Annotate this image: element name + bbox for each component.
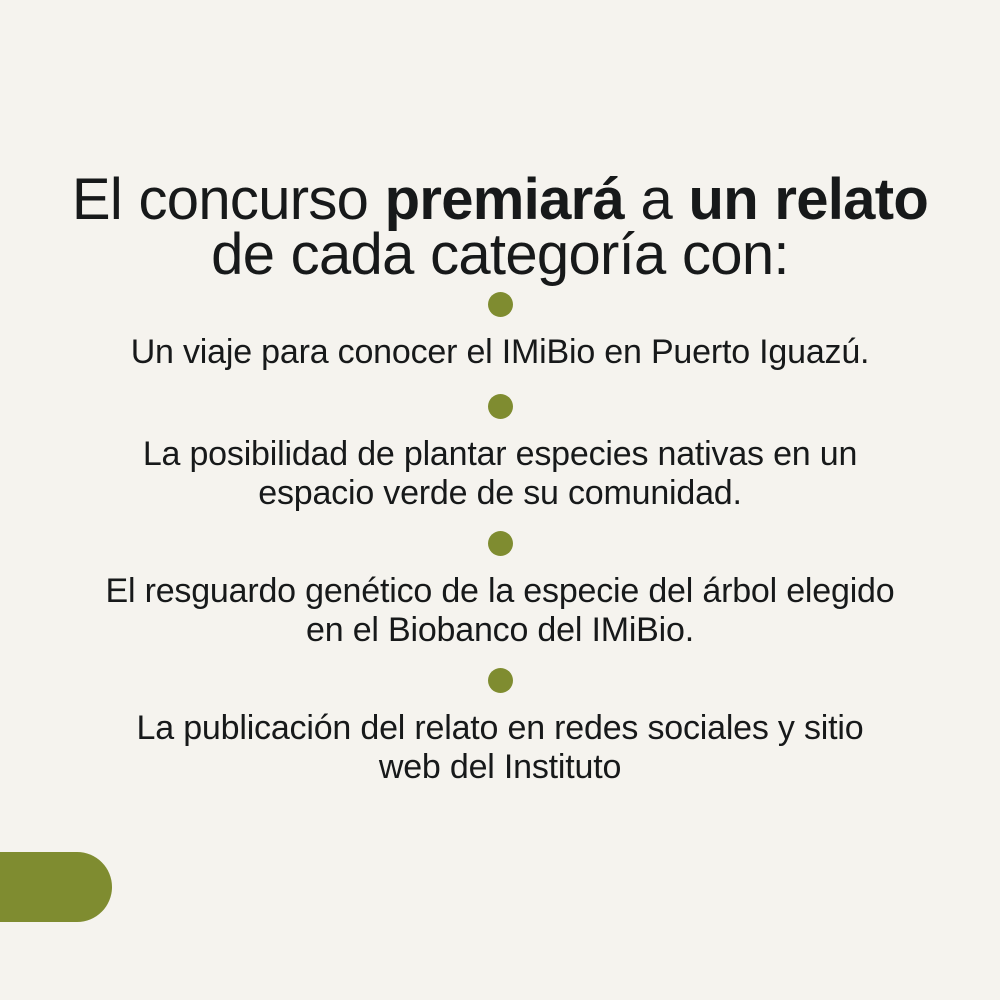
list-item: La posibilidad de plantar especies nativ… [0, 394, 1000, 531]
headline-line-2: de cada categoría con: [211, 222, 789, 287]
list-item-label: La publicación del relato en redes socia… [105, 693, 895, 787]
list-item-label: La posibilidad de plantar especies nativ… [100, 419, 900, 513]
list-item: El resguardo genético de la especie del … [0, 531, 1000, 668]
corner-pill-shape [0, 852, 112, 922]
prize-list: Un viaje para conocer el IMiBio en Puert… [0, 292, 1000, 787]
dot-bullet-icon [488, 668, 513, 693]
dot-bullet-icon [488, 394, 513, 419]
page-title: El concurso premiará a un relatode cada … [50, 172, 950, 282]
dot-bullet-icon [488, 292, 513, 317]
list-item: La publicación del relato en redes socia… [0, 668, 1000, 787]
poster-canvas: El concurso premiará a un relatode cada … [0, 0, 1000, 1000]
list-item: Un viaje para conocer el IMiBio en Puert… [0, 292, 1000, 394]
list-item-label: El resguardo genético de la especie del … [100, 556, 900, 650]
list-item-label: Un viaje para conocer el IMiBio en Puert… [130, 317, 870, 372]
dot-bullet-icon [488, 531, 513, 556]
